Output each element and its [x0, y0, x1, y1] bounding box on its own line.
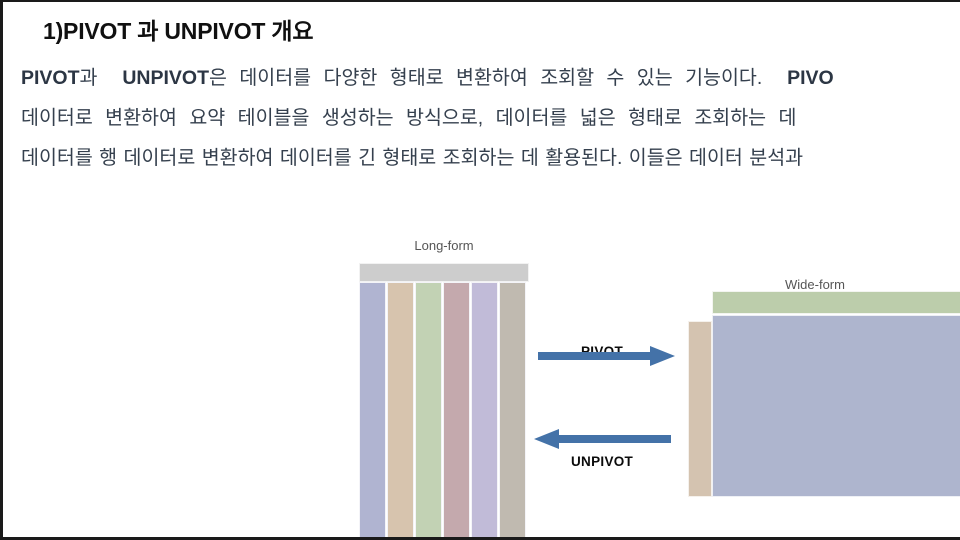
paragraph-line-3-text: 데이터를 행 데이터로 변환하여 데이터를 긴 형태로 조회하는 데 활용된다.…	[21, 147, 803, 169]
wide-form-label: Wide-form	[715, 277, 915, 292]
long-form-column-3	[416, 283, 441, 540]
long-form-column-2	[388, 283, 413, 540]
paragraph-line-3: 데이터를 행 데이터로 변환하여 데이터를 긴 형태로 조회하는 데 활용된다.…	[21, 138, 960, 178]
paragraph-line-1: PIVOT과 UNPIVOT은 데이터를 다양한 형태로 변환하여 조회할 수 …	[21, 58, 960, 98]
long-form-label: Long-form	[360, 238, 528, 253]
long-form-header-bar	[360, 264, 528, 281]
wide-form-body-block	[713, 316, 960, 496]
body-paragraph: PIVOT과 UNPIVOT은 데이터를 다양한 형태로 변환하여 조회할 수 …	[21, 58, 960, 178]
unpivot-arrow-label: UNPIVOT	[571, 454, 633, 469]
long-form-column-5	[472, 283, 497, 540]
wide-form-header-bar	[713, 292, 960, 313]
paragraph-particle-1: 과	[80, 67, 98, 89]
long-form-column-1	[360, 283, 385, 540]
pivot-unpivot-diagram: Long-form PIVOT UNPIVOT Wide-form	[3, 222, 960, 540]
paragraph-line-1-text: 은 데이터를 다양한 형태로 변환하여 조회할 수 있는 기능이다.	[209, 67, 762, 89]
pivot-arrow-icon	[538, 345, 678, 367]
paragraph-line-2-text: 데이터로 변환하여 요약 테이블을 생성하는 방식으로, 데이터를 넓은 형태로…	[21, 107, 796, 129]
long-form-column-4	[444, 283, 469, 540]
unpivot-arrow-icon	[531, 428, 671, 450]
paragraph-term-pivot-truncated: PIVO	[787, 67, 834, 89]
paragraph-line-2: 데이터로 변환하여 요약 테이블을 생성하는 방식으로, 데이터를 넓은 형태로…	[21, 98, 960, 138]
long-form-column-6	[500, 283, 525, 540]
document-page: 1)PIVOT 과 UNPIVOT 개요 PIVOT과 UNPIVOT은 데이터…	[0, 0, 960, 540]
wide-form-index-column	[689, 322, 711, 496]
page-title: 1)PIVOT 과 UNPIVOT 개요	[43, 12, 313, 46]
paragraph-term-unpivot: UNPIVOT	[122, 67, 209, 89]
paragraph-term-pivot: PIVOT	[21, 67, 80, 89]
